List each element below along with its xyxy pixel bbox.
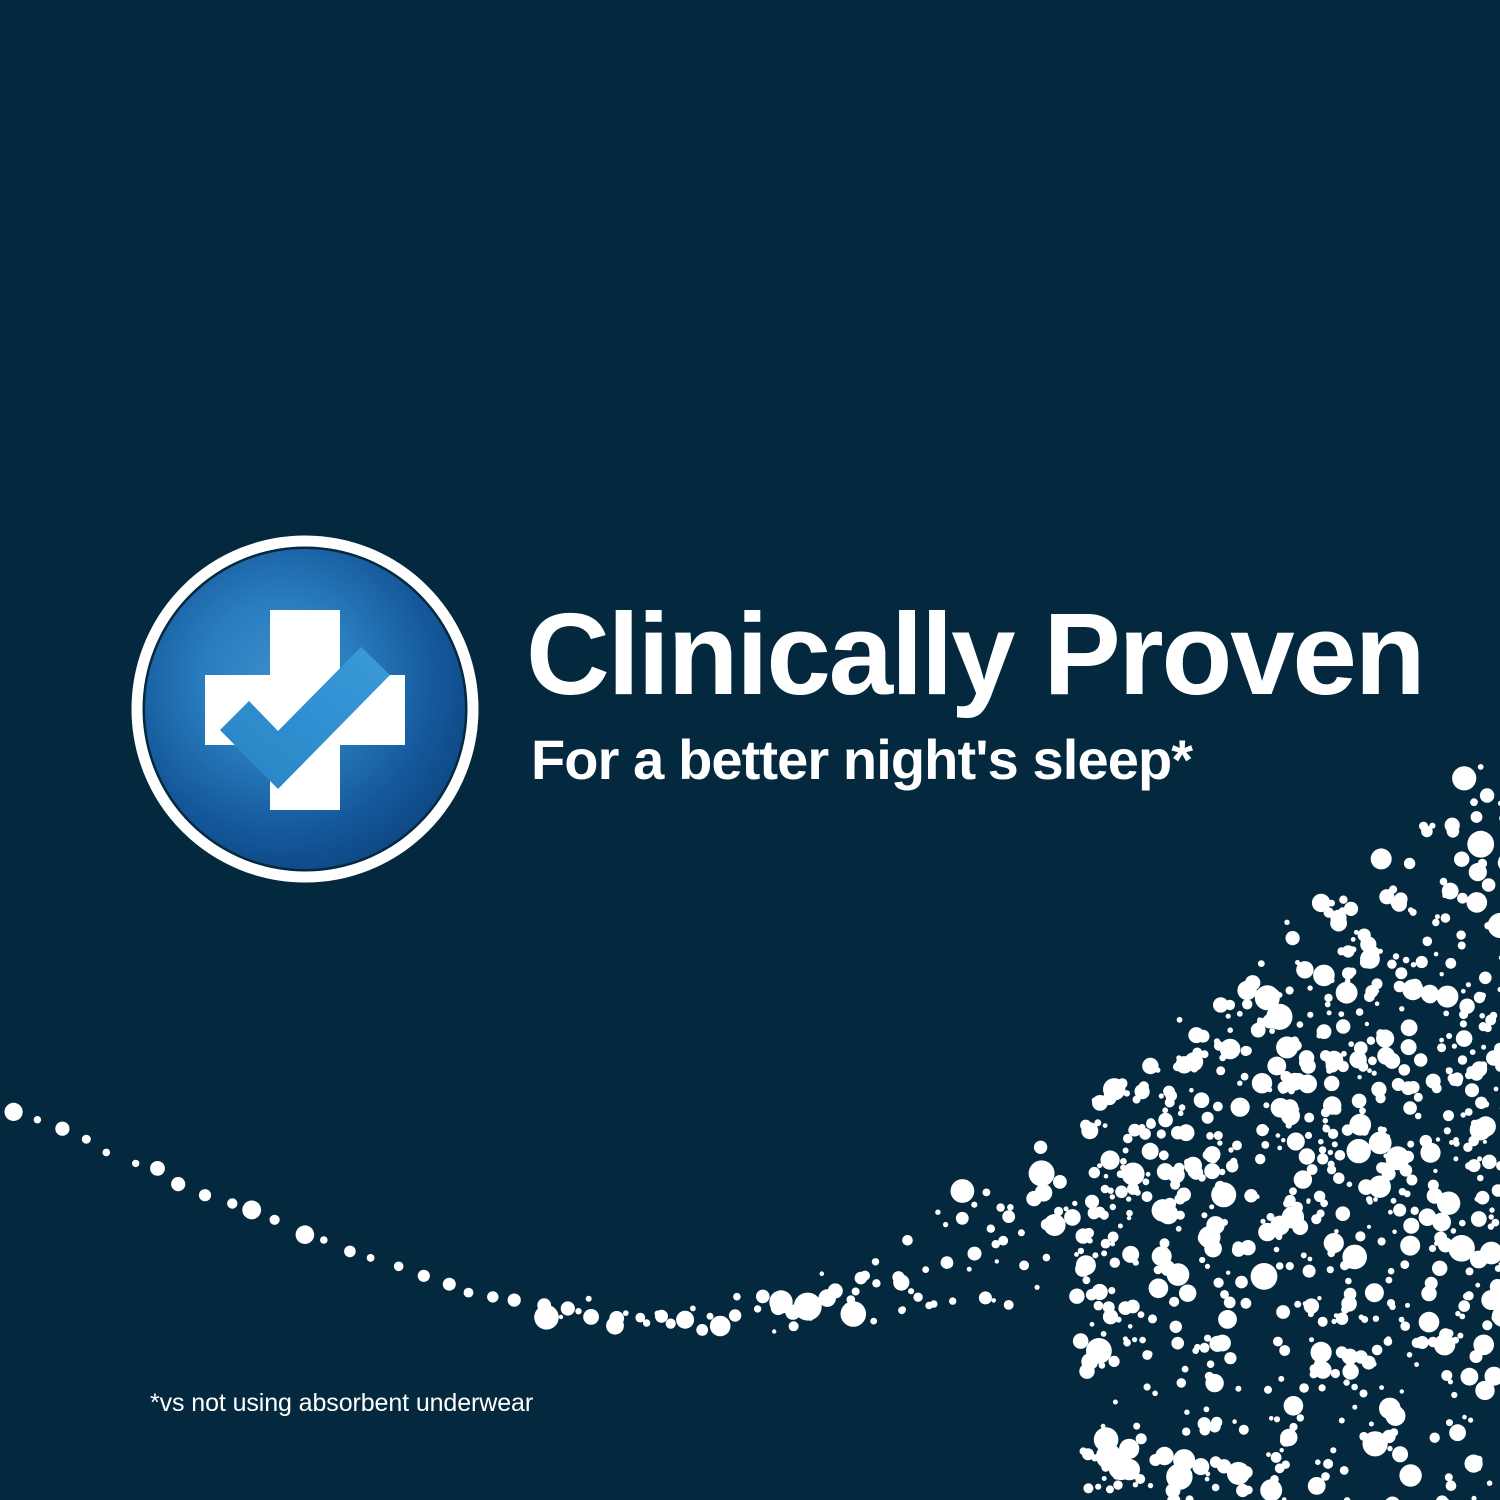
page-title: Clinically Proven	[526, 596, 1446, 712]
clinically-proven-badge	[128, 532, 482, 886]
page-subtitle: For a better night's sleep*	[526, 712, 1446, 788]
headline-block: Clinically Proven For a better night's s…	[526, 596, 1446, 788]
promo-panel: Clinically Proven For a better night's s…	[0, 0, 1500, 1500]
footnote-text: *vs not using absorbent underwear	[150, 1391, 533, 1416]
